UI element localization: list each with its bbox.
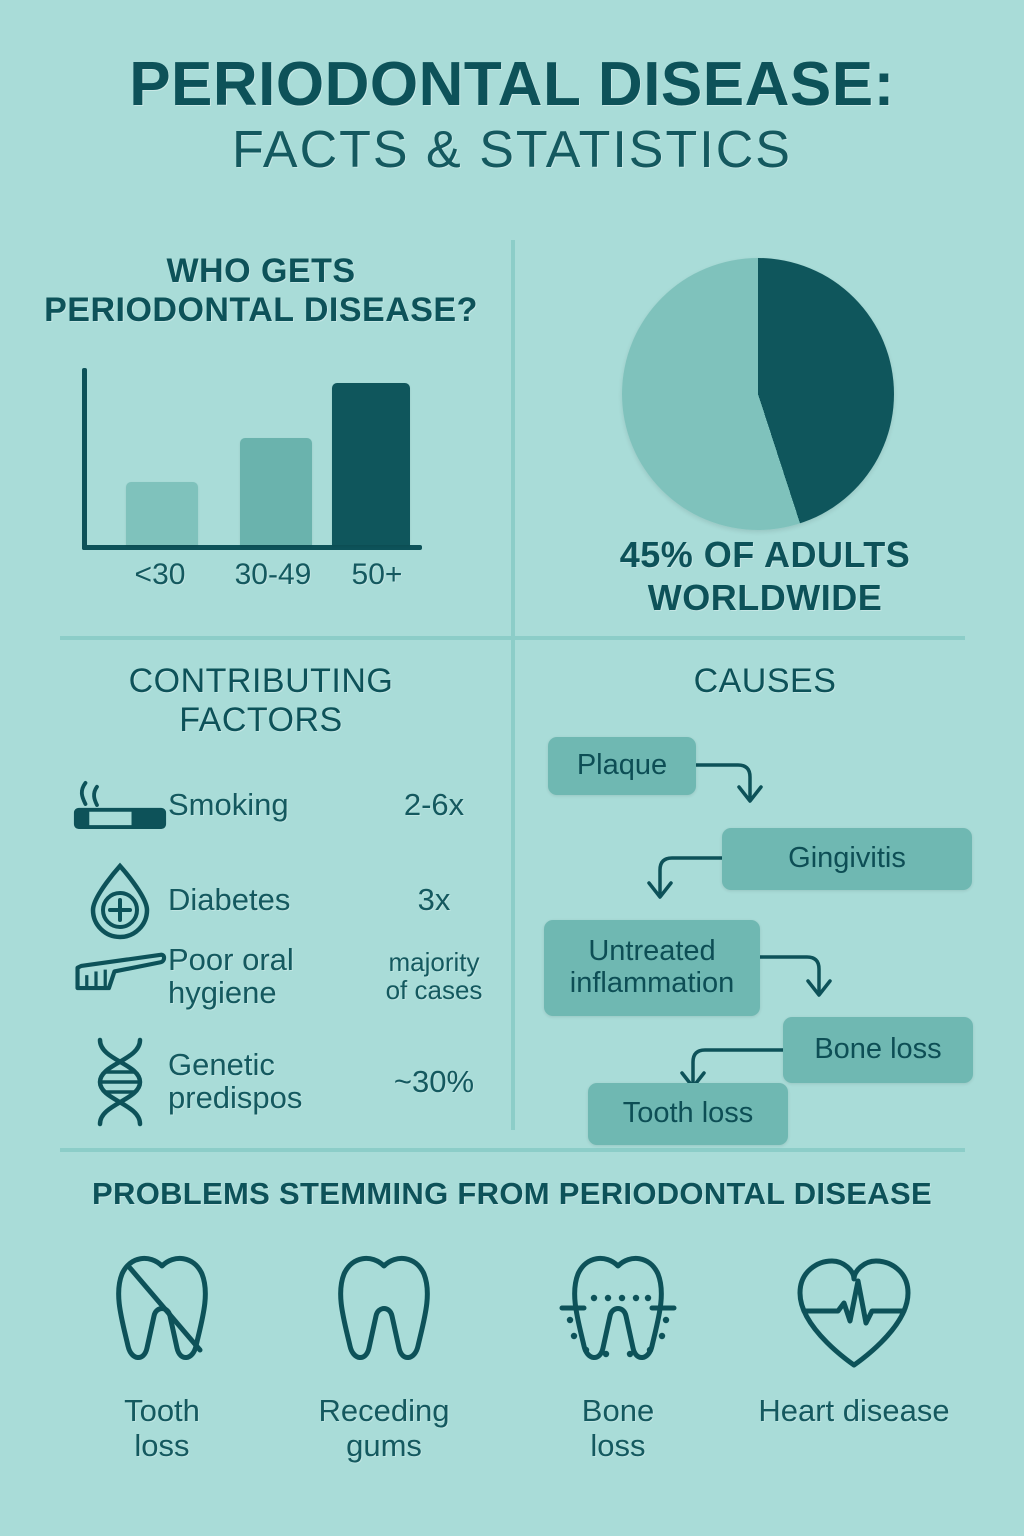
problem-receding-gums: Receding gums [272, 1248, 496, 1463]
contributing-heading: CONTRIBUTING FACTORS [36, 662, 486, 740]
flow-step-bone-loss[interactable]: Bone loss [783, 1017, 973, 1083]
factor-label-diabetes: Diabetes [168, 884, 366, 917]
factor-row-diabetes: Diabetes 3x [72, 860, 502, 940]
factor-row-genetic: Genetic predispos ~30% [72, 1034, 502, 1130]
bar-30-49 [240, 438, 312, 545]
page-subtitle: FACTS & STATISTICS [0, 121, 1024, 179]
chart-x-axis [82, 545, 422, 550]
flow-step-tooth-loss[interactable]: Tooth loss [588, 1083, 788, 1145]
problem-label-heart-disease: Heart disease [742, 1394, 966, 1429]
problem-label-receding-gums: Receding gums [272, 1394, 496, 1463]
factor-label-smoking: Smoking [168, 789, 366, 822]
dna-icon [72, 1034, 168, 1130]
problems-heading: PROBLEMS STEMMING FROM PERIODONTAL DISEA… [0, 1176, 1024, 1212]
tooth-slash-icon [50, 1248, 274, 1380]
problem-tooth-loss: Tooth loss [50, 1248, 274, 1463]
flow-step-gingivitis[interactable]: Gingivitis [722, 828, 972, 890]
causes-flowchart: Plaque Gingivitis Untreated inflammation… [520, 725, 1010, 1125]
causes-heading: CAUSES [520, 662, 1010, 701]
title-block: PERIODONTAL DISEASE: FACTS & STATISTICS [0, 52, 1024, 179]
factor-value-smoking: 2-6x [366, 789, 502, 822]
factor-value-diabetes: 3x [366, 884, 502, 917]
prevalence-caption-line1: 45% OF ADULTS [520, 533, 1010, 576]
factor-value-oral-hygiene: majority of cases [366, 949, 502, 1004]
blood-drop-icon [72, 860, 168, 940]
divider-horizontal-bottom [60, 1148, 965, 1152]
tooth-icon [272, 1248, 496, 1380]
factor-label-genetic: Genetic predispos [168, 1049, 366, 1115]
who-gets-heading: WHO GETS PERIODONTAL DISEASE? [26, 252, 496, 330]
problem-label-tooth-loss: Tooth loss [50, 1394, 274, 1463]
factor-value-genetic: ~30% [366, 1066, 502, 1099]
prevalence-caption-line2: WORLDWIDE [520, 576, 1010, 619]
bar-label-0: <30 [120, 558, 200, 592]
bar-label-1: 30-49 [218, 558, 328, 592]
age-bar-chart [82, 368, 422, 550]
factor-row-smoking: Smoking 2-6x [72, 776, 502, 834]
prevalence-pie-chart [622, 258, 894, 530]
who-gets-heading-line2: PERIODONTAL DISEASE? [26, 291, 496, 330]
factor-label-oral-hygiene: Poor oral hygiene [168, 944, 366, 1010]
infographic-page: PERIODONTAL DISEASE: FACTS & STATISTICS … [0, 0, 1024, 1536]
divider-vertical-lower [511, 640, 515, 1130]
page-title: PERIODONTAL DISEASE: [0, 52, 1024, 117]
tooth-bone-loss-icon [506, 1248, 730, 1380]
flow-step-untreated-inflammation[interactable]: Untreated inflammation [544, 920, 760, 1016]
who-gets-heading-line1: WHO GETS [26, 252, 496, 291]
bar-label-2: 50+ [332, 558, 422, 592]
contributing-heading-line2: FACTORS [36, 701, 486, 740]
prevalence-caption: 45% OF ADULTS WORLDWIDE [520, 533, 1010, 619]
flow-step-plaque[interactable]: Plaque [548, 737, 696, 795]
cigarette-icon [72, 776, 168, 834]
toothbrush-icon [72, 945, 168, 1009]
causes-heading-label: CAUSES [520, 662, 1010, 701]
problem-bone-loss: Bone loss [506, 1248, 730, 1463]
contributing-heading-line1: CONTRIBUTING [36, 662, 486, 701]
chart-y-axis [82, 368, 87, 550]
problem-heart-disease: Heart disease [742, 1248, 966, 1429]
problem-label-bone-loss: Bone loss [506, 1394, 730, 1463]
bar-under-30 [126, 482, 198, 545]
bar-50-plus [332, 383, 410, 545]
divider-vertical [511, 240, 515, 640]
factor-row-oral-hygiene: Poor oral hygiene majority of cases [72, 944, 502, 1010]
heart-ecg-icon [742, 1248, 966, 1380]
